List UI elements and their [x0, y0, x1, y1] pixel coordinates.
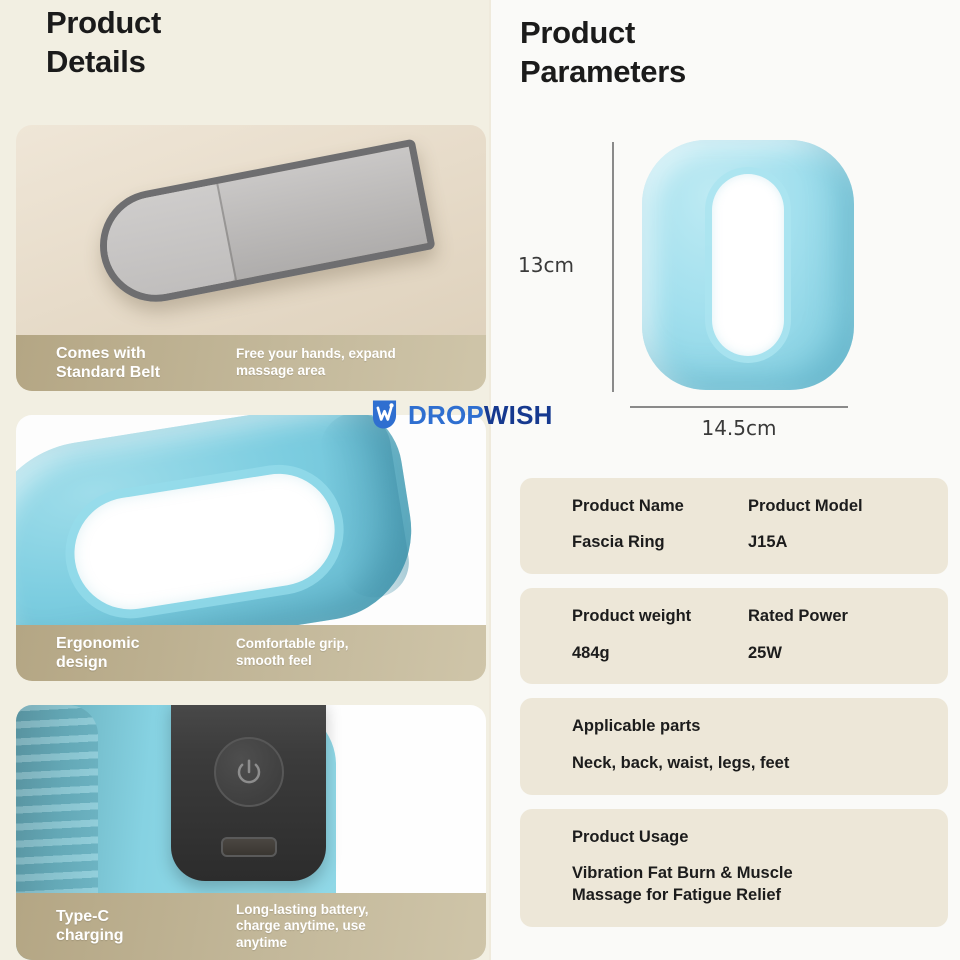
width-dimension-label: 14.5cm — [490, 416, 960, 440]
spec-cell-product-name: Product Name Fascia Ring — [572, 496, 748, 554]
caption-subtitle-line-3: anytime — [236, 935, 369, 951]
width-dimension-line — [630, 406, 848, 408]
spec-cell-product-weight: Product weight 484g — [572, 606, 748, 664]
spec-label: Applicable parts — [572, 716, 924, 737]
caption-title: Type-C charging — [56, 907, 236, 945]
spec-value: 484g — [572, 643, 748, 665]
dropwish-logo-text: DROPWISH — [408, 402, 553, 428]
dropwish-logo-icon — [368, 398, 401, 431]
product-detail-page: Product Details Comes with Standard Belt — [0, 0, 960, 960]
height-dimension-label: 13cm — [518, 253, 574, 277]
height-dimension-line — [612, 142, 614, 392]
caption-title: Ergonomic design — [56, 634, 236, 672]
spec-cell-product-usage: Product Usage Vibration Fat Burn & Muscl… — [572, 827, 924, 907]
belt-illustration — [90, 139, 435, 312]
belt-body — [90, 139, 435, 312]
caption-title-line-1: Comes with — [56, 344, 236, 363]
detail-card-ergonomic-design[interactable]: Ergonomic design Comfortable grip, smoot… — [16, 415, 486, 681]
spec-cell-rated-power: Rated Power 25W — [748, 606, 924, 664]
spec-value: J15A — [748, 532, 924, 554]
caption-subtitle-line-2: massage area — [236, 363, 396, 379]
caption-title: Comes with Standard Belt — [56, 344, 236, 382]
caption-subtitle-line-2: charge anytime, use — [236, 918, 369, 934]
panel-divider — [489, 0, 491, 960]
spec-value: Fascia Ring — [572, 532, 748, 554]
spec-value: Vibration Fat Burn & Muscle Massage for … — [572, 863, 924, 907]
specifications-table: Product Name Fascia Ring Product Model J… — [520, 478, 948, 941]
ergonomic-ring-photo: Ergonomic design Comfortable grip, smoot… — [16, 415, 486, 681]
logo-text-drop: DROP — [408, 400, 484, 430]
spec-label: Product Usage — [572, 827, 924, 848]
caption-subtitle-line-1: Comfortable grip, — [236, 636, 349, 652]
caption-title-line-1: Ergonomic — [56, 634, 236, 653]
dropwish-watermark: DROPWISH — [368, 398, 553, 431]
spec-label: Product weight — [572, 606, 748, 627]
power-icon — [234, 757, 264, 787]
spec-cell-product-model: Product Model J15A — [748, 496, 924, 554]
fascia-ring-illustration — [642, 140, 854, 390]
caption-subtitle-line-1: Long-lasting battery, — [236, 902, 369, 918]
spec-value-line-1: Vibration Fat Burn & Muscle — [572, 863, 924, 885]
caption-title-line-2: Standard Belt — [56, 363, 236, 382]
led-indicator — [221, 837, 277, 857]
caption-subtitle: Comfortable grip, smooth feel — [236, 636, 349, 669]
spec-value-line-2: Massage for Fatigue Relief — [572, 885, 924, 907]
spec-row-product-name: Product Name Fascia Ring Product Model J… — [520, 478, 948, 574]
control-panel — [171, 705, 326, 881]
caption-subtitle-line-1: Free your hands, expand — [236, 346, 396, 362]
caption-subtitle-line-2: smooth feel — [236, 653, 349, 669]
standard-belt-photo: Comes with Standard Belt Free your hands… — [16, 125, 486, 391]
spec-value: 25W — [748, 643, 924, 665]
caption-title-line-2: charging — [56, 926, 236, 945]
product-details-heading: Product Details — [46, 4, 161, 82]
product-parameters-heading: Product Parameters — [520, 14, 686, 92]
caption-title-line-1: Type-C — [56, 907, 236, 926]
spec-label: Product Model — [748, 496, 924, 517]
heading-line-2: Details — [46, 43, 161, 82]
power-button[interactable] — [214, 737, 284, 807]
product-details-panel: Product Details Comes with Standard Belt — [0, 0, 490, 960]
spec-row-product-usage: Product Usage Vibration Fat Burn & Muscl… — [520, 809, 948, 927]
belt-pad — [99, 184, 236, 303]
caption-bar: Ergonomic design Comfortable grip, smoot… — [16, 625, 486, 681]
power-button-photo: Type-C charging Long-lasting battery, ch… — [16, 705, 486, 960]
caption-bar: Comes with Standard Belt Free your hands… — [16, 335, 486, 391]
spec-value: Neck, back, waist, legs, feet — [572, 753, 924, 775]
heading-line-2: Parameters — [520, 53, 686, 92]
caption-subtitle: Free your hands, expand massage area — [236, 346, 396, 379]
ring-shadow — [316, 415, 414, 602]
spec-row-weight-power: Product weight 484g Rated Power 25W — [520, 588, 948, 684]
heading-line-1: Product — [46, 4, 161, 43]
caption-title-line-2: design — [56, 653, 236, 672]
spec-row-applicable-parts: Applicable parts Neck, back, waist, legs… — [520, 698, 948, 794]
spec-label: Rated Power — [748, 606, 924, 627]
product-hero-diagram: 13cm 14.5cm — [490, 128, 960, 458]
spec-label: Product Name — [572, 496, 748, 517]
caption-bar: Type-C charging Long-lasting battery, ch… — [16, 893, 486, 960]
caption-subtitle: Long-lasting battery, charge anytime, us… — [236, 902, 369, 951]
product-parameters-panel: Product Parameters 13cm 14.5cm Product N… — [490, 0, 960, 960]
logo-text-wish: WISH — [484, 400, 553, 430]
detail-card-type-c-charging[interactable]: Type-C charging Long-lasting battery, ch… — [16, 705, 486, 960]
heading-line-1: Product — [520, 14, 686, 53]
spec-cell-applicable-parts: Applicable parts Neck, back, waist, legs… — [572, 716, 924, 774]
detail-card-standard-belt[interactable]: Comes with Standard Belt Free your hands… — [16, 125, 486, 391]
